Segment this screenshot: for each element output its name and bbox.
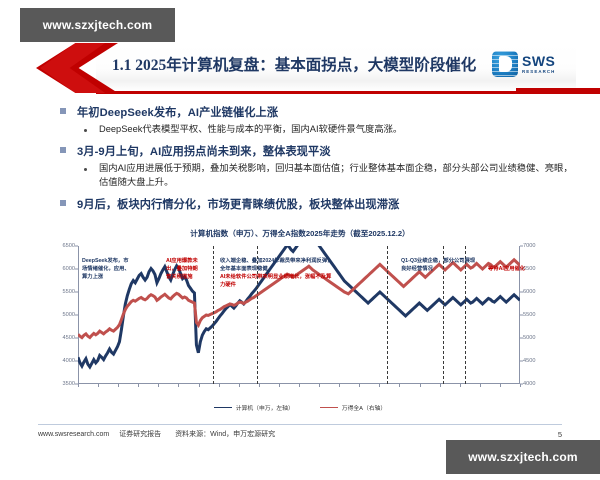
bullet-level1: 9月后，板块内行情分化，市场更青睐绩优股，板块整体出现滞涨 [60, 196, 580, 212]
x-axis-tick-mark [319, 384, 320, 387]
y-axis-left-tick-label: 6500 [63, 243, 75, 249]
dot-bullet-icon [84, 168, 87, 171]
dot-bullet-icon [84, 129, 87, 132]
bullet-level1-text: 9月后，板块内行情分化，市场更青睐绩优股，板块整体出现滞涨 [77, 196, 399, 212]
header-red-tail [516, 88, 600, 94]
annotation-line: Q1-Q3业绩企稳，部分公司展现 [401, 258, 475, 266]
footer-url[interactable]: www.swsresearch.com [38, 431, 109, 438]
y-axis-left-tick-label: 5000 [63, 312, 75, 318]
x-axis-tick-mark [259, 384, 260, 387]
bullet-level1-text: 3月-9月上旬，AI应用拐点尚未到来，整体表现平淡 [77, 143, 331, 159]
watermark-top: www.szxjtech.com [20, 8, 175, 42]
legend-item-wind-all-a: 万得全A（右轴） [320, 403, 386, 412]
x-axis-tick-mark [279, 384, 280, 387]
bullet-level2-text: 国内AI应用进展低于预期，叠加关税影响，回归基本面估值；行业整体基本面企稳，部分… [99, 162, 580, 189]
chart-annotation-4: Q1-Q3业绩企稳，部分公司展现良好经营情况 [401, 258, 475, 274]
annotation-line: AI应用爆款未 [166, 258, 198, 266]
slide-footer: www.swsresearch.com 证券研究报告 资料来源：Wind，申万宏… [38, 424, 562, 439]
chart-legend: 计算机（申万，左轴） 万得全A（右轴） [38, 403, 562, 412]
chart-annotation-1: DeepSeek发布，市场情绪催化，应用、算力上涨 [82, 258, 130, 282]
x-axis-tick-mark [219, 384, 220, 387]
chart: 计算机指数（申万）、万得全A指数2025年走势（截至2025.12.2） 350… [38, 228, 562, 414]
y-axis-right-tick-label: 4000 [523, 381, 535, 387]
axis-tick-mark [75, 246, 78, 247]
x-axis-tick-mark [239, 384, 240, 387]
legend-swatch-computer [214, 407, 232, 409]
annotation-line: 全年基本面表现稳健 [220, 266, 332, 274]
y-axis-left-tick-label: 3500 [63, 381, 75, 387]
annotation-line: 普关税措施 [166, 274, 198, 282]
axis-tick-mark [520, 315, 523, 316]
y-axis-right-tick-label: 7000 [523, 243, 535, 249]
y-axis-left-tick-label: 6000 [63, 266, 75, 272]
axis-tick-mark [520, 246, 523, 247]
chart-title: 计算机指数（申万）、万得全A指数2025年走势（截至2025.12.2） [38, 228, 562, 239]
bullet-level1: 年初DeepSeek发布，AI产业链催化上涨 [60, 104, 580, 120]
y-axis-left-tick-label: 5500 [63, 289, 75, 295]
annotation-line: 等待AI应用催化 [488, 266, 525, 274]
watermark-bottom: www.szxjtech.com [446, 440, 600, 474]
x-axis-tick-mark [379, 384, 380, 387]
chart-annotation-2: AI应用爆款未出，叠加特朗普关税措施 [166, 258, 198, 282]
event-marker-line [387, 246, 388, 384]
annotation-line: 场情绪催化，应用、 [82, 266, 130, 274]
x-axis-tick-mark [118, 384, 119, 387]
x-axis-tick-mark [440, 384, 441, 387]
axis-tick-mark [75, 361, 78, 362]
bullet-level2: DeepSeek代表模型平权、性能与成本的平衡，国内AI软硬件景气度高涨。 [84, 123, 580, 136]
x-axis-tick-mark [480, 384, 481, 387]
footer-report-label: 证券研究报告 [119, 429, 161, 439]
x-axis-tick-mark [178, 384, 179, 387]
axis-tick-mark [520, 361, 523, 362]
x-axis-tick-mark [98, 384, 99, 387]
bullet-list: 年初DeepSeek发布，AI产业链催化上涨 DeepSeek代表模型平权、性能… [60, 104, 580, 215]
sws-logo: SWS RESEARCH [492, 49, 576, 79]
annotation-line: 力硬件 [220, 282, 332, 290]
x-axis-tick-mark [339, 384, 340, 387]
x-axis-tick-mark [460, 384, 461, 387]
annotation-line: 出，叠加特朗 [166, 266, 198, 274]
annotation-line: 良好经营情况 [401, 266, 475, 274]
y-axis-left-tick-label: 4000 [63, 358, 75, 364]
page-number: 5 [558, 430, 562, 439]
chart-annotation-5: 等待AI应用催化 [488, 266, 525, 274]
slide: www.szxjtech.com 1.1 2025年计算机复盘：基本面拐点，大模… [0, 0, 600, 480]
axis-tick-mark [520, 292, 523, 293]
x-axis-tick-mark [520, 384, 521, 387]
chart-annotation-3: 收入端企稳、叠加2024年裁员带来净利润反弹，全年基本面表现稳健AI未给软件公司… [220, 258, 332, 290]
legend-item-computer: 计算机（申万，左轴） [214, 403, 294, 412]
footer-source: 资料来源：Wind，申万宏源研究 [175, 429, 275, 439]
y-axis-left-tick-label: 4500 [63, 335, 75, 341]
y-axis-right-tick-label: 5000 [523, 335, 535, 341]
bullet-level1: 3月-9月上旬，AI应用拐点尚未到来，整体表现平淡 [60, 143, 580, 159]
x-axis-tick-mark [78, 384, 79, 387]
axis-tick-mark [520, 338, 523, 339]
event-marker-line [213, 246, 214, 384]
x-axis-tick-mark [500, 384, 501, 387]
sws-logo-subtitle: RESEARCH [522, 70, 555, 74]
sws-logo-text: SWS RESEARCH [522, 54, 555, 74]
square-bullet-icon [60, 147, 66, 153]
sws-mark-icon [492, 51, 518, 77]
annotation-line: 收入端企稳、叠加2024年裁员带来净利润反弹， [220, 258, 332, 266]
bullet-level2-text: DeepSeek代表模型平权、性能与成本的平衡，国内AI软硬件景气度高涨。 [99, 123, 402, 136]
x-axis-tick-mark [399, 384, 400, 387]
x-axis-tick-mark [359, 384, 360, 387]
axis-tick-mark [75, 292, 78, 293]
legend-swatch-wind-all-a [320, 407, 338, 409]
axis-tick-mark [75, 338, 78, 339]
legend-label-wind-all-a: 万得全A（右轴） [342, 403, 386, 412]
x-axis-tick-mark [138, 384, 139, 387]
axis-tick-mark [75, 315, 78, 316]
y-axis-right-tick-label: 6000 [523, 289, 535, 295]
legend-label-computer: 计算机（申万，左轴） [236, 403, 294, 412]
annotation-line: AI未给软件公司带来明显业绩增长，涨幅不及算 [220, 274, 332, 282]
annotation-line: 算力上涨 [82, 274, 130, 282]
x-axis-tick-mark [299, 384, 300, 387]
x-axis-tick-mark [420, 384, 421, 387]
square-bullet-icon [60, 200, 66, 206]
x-axis-tick-mark [199, 384, 200, 387]
bullet-level2: 国内AI应用进展低于预期，叠加关税影响，回归基本面估值；行业整体基本面企稳，部分… [84, 162, 580, 189]
x-axis-tick-mark [158, 384, 159, 387]
page-title: 1.1 2025年计算机复盘：基本面拐点，大模型阶段催化 [112, 53, 476, 75]
annotation-line: DeepSeek发布，市 [82, 258, 130, 266]
bullet-level1-text: 年初DeepSeek发布，AI产业链催化上涨 [77, 104, 278, 120]
sws-logo-name: SWS [522, 54, 555, 68]
axis-tick-mark [75, 269, 78, 270]
square-bullet-icon [60, 108, 66, 114]
y-axis-right-tick-label: 5500 [523, 312, 535, 318]
y-axis-right-tick-label: 4500 [523, 358, 535, 364]
